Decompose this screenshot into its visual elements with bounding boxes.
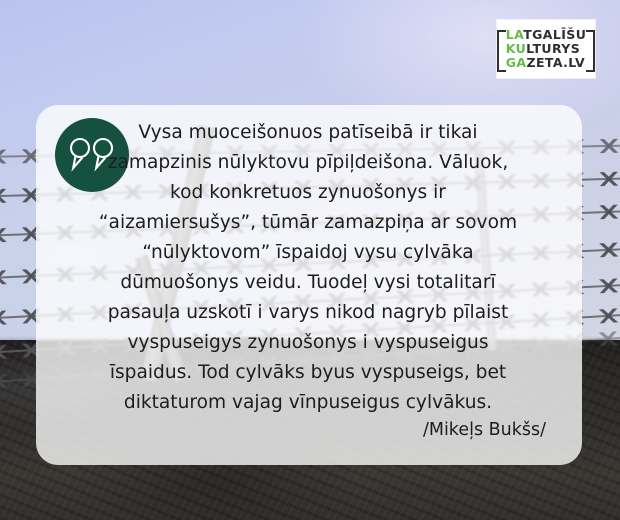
logo-line-1-rest: TGALĪŠU: [523, 27, 586, 42]
logo-line-3: GAZETA.LV: [506, 56, 587, 70]
bracket-right-icon: [586, 30, 595, 72]
logo-line-3-accent: GA: [506, 55, 527, 70]
logo-line-1-accent: LA: [506, 27, 523, 42]
logo-inner: LATGALĪŠU KULTURYS GAZETA.LV: [497, 28, 596, 70]
quote-card-image: LATGALĪŠU KULTURYS GAZETA.LV Vysa muocei…: [0, 0, 620, 520]
logo-line-2-accent: KU: [506, 41, 526, 56]
quote-text: Vysa muoceišonuos patīseibā ir tikai zam…: [46, 118, 570, 418]
bracket-left-icon: [497, 30, 506, 72]
site-logo[interactable]: LATGALĪŠU KULTURYS GAZETA.LV: [497, 20, 595, 78]
logo-line-1: LATGALĪŠU: [506, 28, 587, 42]
logo-line-3-rest: ZETA.LV: [526, 55, 585, 70]
logo-line-2: KULTURYS: [506, 42, 587, 56]
logo-line-2-rest: LTURYS: [526, 41, 580, 56]
quote-attribution: /Mikeļs Bukšs/: [46, 420, 546, 440]
